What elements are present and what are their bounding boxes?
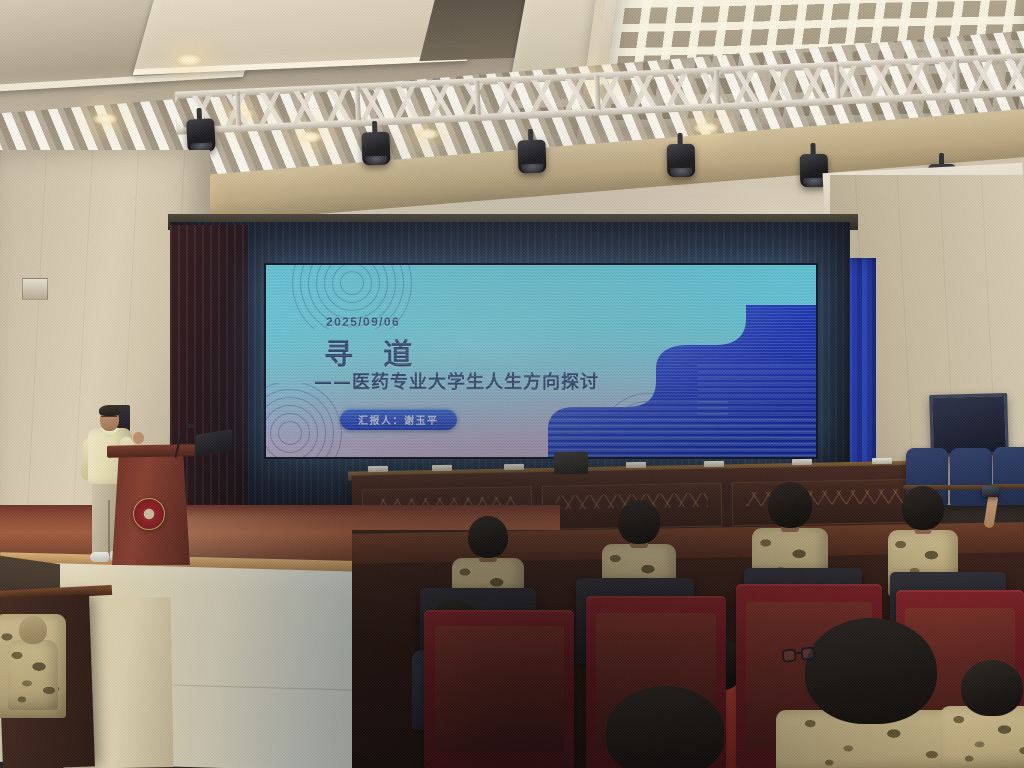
- attendee-head: [468, 516, 508, 558]
- table-monitor-icon: [554, 452, 588, 475]
- glasses-lens-left: [781, 648, 796, 662]
- attendee-head: [606, 686, 724, 768]
- presenter-shoe: [90, 552, 109, 562]
- light-lens: [365, 156, 387, 166]
- downlight-icon: [693, 122, 719, 134]
- stage-light-icon: [667, 142, 696, 182]
- university-seal-emblem: [133, 498, 165, 530]
- table-name-card: [626, 462, 646, 468]
- attendee-foreground-dark: [600, 686, 730, 768]
- projection-screen: 2025/09/06 寻 道 ——医药专业大学生人生方向探讨 汇报人：谢玉平: [264, 263, 818, 459]
- phone-icon: [982, 486, 999, 497]
- slide-subtitle: ——医药专业大学生人生方向探讨: [314, 368, 599, 394]
- light-lens: [521, 164, 543, 174]
- presentation-slide: 2025/09/06 寻 道 ——医药专业大学生人生方向探讨 汇报人：谢玉平: [266, 265, 816, 457]
- slide-date: 2025/09/06: [326, 315, 400, 329]
- downlight-icon: [92, 113, 118, 125]
- presenter-trouser-seam: [108, 500, 110, 556]
- slide-presenter-badge: 汇报人：谢玉平: [340, 409, 457, 430]
- table-name-card: [792, 459, 812, 465]
- attendee-head: [961, 660, 1023, 716]
- attendee-head: [902, 486, 944, 530]
- presenter-hair: [99, 405, 120, 416]
- downlight-icon: [414, 128, 440, 140]
- slide-title: 寻 道: [324, 331, 422, 373]
- table-name-card: [704, 461, 724, 467]
- downlight-icon: [297, 131, 323, 143]
- attendee-head: [618, 500, 660, 544]
- attendee-uniform: [8, 640, 58, 710]
- table-name-card: [368, 466, 388, 472]
- auditorium-seat: [424, 610, 574, 768]
- stage-light-icon: [517, 138, 546, 179]
- attendee-head: [805, 618, 937, 724]
- auditorium-photo: 2025/09/06 寻 道 ——医药专业大学生人生方向探讨 汇报人：谢玉平: [0, 0, 1024, 768]
- attendee-foreground-glasses: [776, 618, 966, 768]
- table-name-card: [504, 464, 524, 470]
- downlight-icon: [176, 54, 202, 66]
- presenter-glasses-icon: [101, 416, 117, 420]
- light-lens: [670, 168, 692, 177]
- glasses-lens-right: [800, 646, 815, 660]
- wall-control-box: [22, 278, 48, 300]
- table-name-card: [872, 458, 892, 464]
- attendee-left-back: [8, 616, 58, 708]
- microphone-icon: [186, 424, 194, 428]
- lectern-top: [107, 444, 195, 458]
- stage-light-icon: [361, 130, 390, 171]
- attendee-head: [19, 616, 47, 644]
- table-name-card: [432, 465, 452, 471]
- presenter-hand: [133, 432, 144, 444]
- attendee-head: [768, 482, 812, 528]
- attendee-foreground-camo: [940, 660, 1024, 768]
